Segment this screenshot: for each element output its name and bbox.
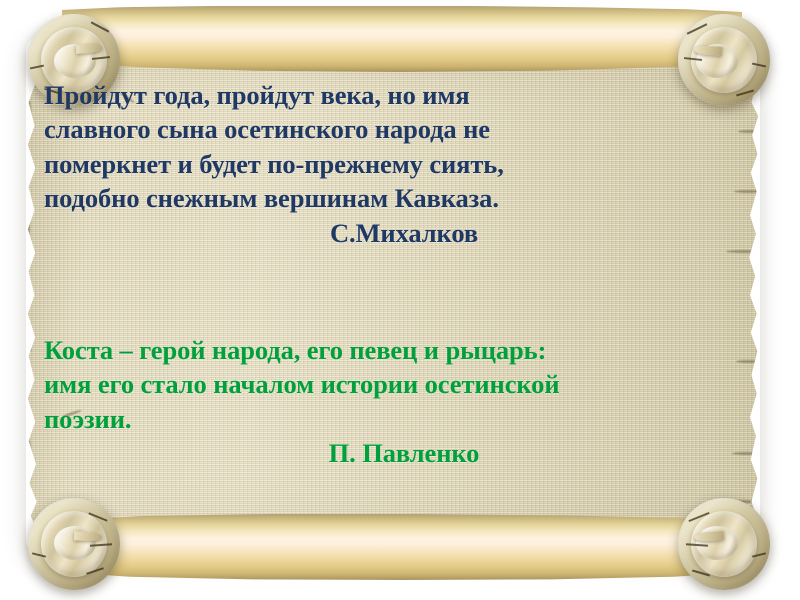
quote-attribution: С.Михалков [44, 216, 744, 250]
quote-line: Коста – герой народа, его певец и рыцарь… [44, 333, 744, 367]
quote-line: померкнет и будет по-прежнему сиять, [44, 147, 744, 181]
slide-canvas: Пройдут года, пройдут века, но имя славн… [0, 0, 800, 600]
quote-pavlenko: Коста – герой народа, его певец и рыцарь… [44, 333, 744, 471]
quote-line: Пройдут года, пройдут века, но имя [44, 78, 744, 112]
quote-line: имя его стало началом истории осетинской [44, 367, 744, 401]
quote-line: подобно снежным вершинам Кавказа. [44, 181, 744, 215]
quote-text-layer: Пройдут года, пройдут века, но имя славн… [0, 0, 800, 600]
quote-line: славного сына осетинского народа не [44, 112, 744, 146]
quote-line: поэзии. [44, 402, 744, 436]
quote-mikhalkov: Пройдут года, пройдут века, но имя славн… [44, 78, 744, 250]
quote-attribution: П. Павленко [44, 436, 744, 470]
